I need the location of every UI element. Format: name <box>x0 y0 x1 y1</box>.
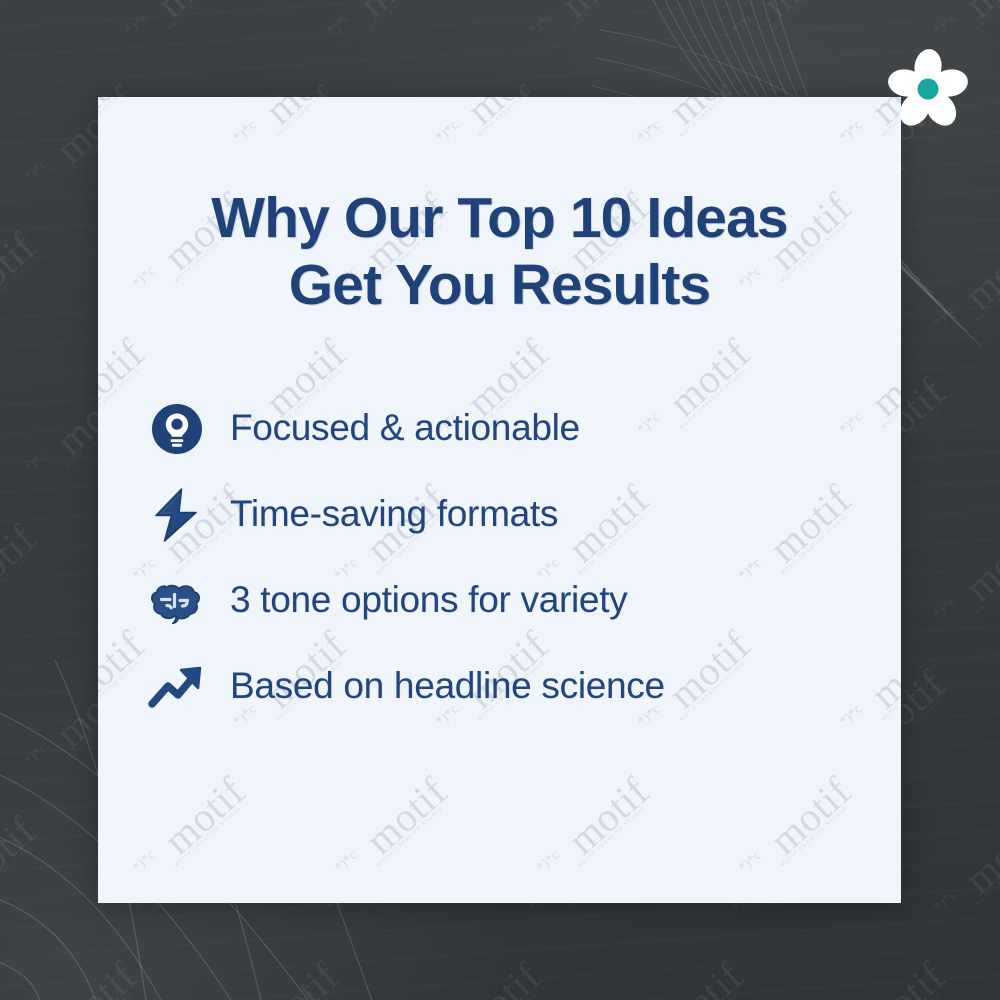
page-title-line-1: Why Our Top 10 Ideas <box>138 185 861 252</box>
watermark-mark: *)*cmotif.MOTIF CREATIVE STUDIO <box>0 311 8 482</box>
watermark-mark: *)*cmotif.MOTIF CREATIVE STUDIO <box>633 895 815 1000</box>
watermark-mark: *)*cmotif.MOTIF CREATIVE STUDIO <box>532 0 714 44</box>
list-item: Based on headline science <box>148 658 901 716</box>
watermark-mark: *)*cmotif.MOTIF CREATIVE STUDIO <box>936 457 1000 628</box>
watermark-mark: *)*cmotif.MOTIF CREATIVE STUDIO <box>0 0 109 44</box>
watermark-mark: *)*cmotif.MOTIF CREATIVE STUDIO <box>0 165 109 336</box>
list-item: Focused & actionable <box>148 400 901 458</box>
watermark-mark: *)*cmotif.MOTIF CREATIVE STUDIO <box>128 0 310 44</box>
lightbulb-circle-icon <box>148 400 206 458</box>
watermark-mark: *)*cmotif.MOTIF CREATIVE STUDIO <box>0 457 109 628</box>
watermark-mark: *)*cmotif.MOTIF CREATIVE STUDIO <box>0 749 109 920</box>
list-item-label: Based on headline science <box>230 666 665 707</box>
watermark-mark: *)*cmotif.MOTIF CREATIVE STUDIO <box>0 603 8 774</box>
watermark-mark: *)*cmotif.MOTIF CREATIVE STUDIO <box>0 19 8 190</box>
watermark-mark: *)*cmotif.MOTIF CREATIVE STUDIO <box>936 749 1000 920</box>
watermark-mark: *)*cmotif.MOTIF CREATIVE STUDIO <box>936 165 1000 336</box>
list-item-label: 3 tone options for variety <box>230 580 627 621</box>
list-item: 3 tone options for variety <box>148 572 901 630</box>
brain-icon <box>148 572 206 630</box>
watermark-mark: *)*cmotif.MOTIF CREATIVE STUDIO <box>431 895 613 1000</box>
flower-center <box>918 79 939 100</box>
list-item-label: Focused & actionable <box>230 408 580 449</box>
feature-list: Focused & actionable Time-saving formats <box>98 320 901 716</box>
watermark-mark: *)*cmotif.MOTIF CREATIVE STUDIO <box>330 0 512 44</box>
watermark-mark: *)*cmotif.MOTIF CREATIVE STUDIO <box>0 895 8 1000</box>
slide-canvas: *)*cmotif.MOTIF CREATIVE STUDIO*)*cmotif… <box>0 0 1000 1000</box>
watermark-mark: *)*cmotif.MOTIF CREATIVE STUDIO <box>229 895 411 1000</box>
lightning-bolt-icon <box>148 486 206 544</box>
flower-icon <box>884 45 972 133</box>
watermark-mark: *)*cmotif.MOTIF CREATIVE STUDIO <box>734 0 916 44</box>
content-card: *)*cmotif.MOTIF CREATIVE STUDIO*)*cmotif… <box>98 97 901 903</box>
watermark-mark: *)*cmotif.MOTIF CREATIVE STUDIO <box>27 895 209 1000</box>
trending-up-arrow-icon <box>148 658 206 716</box>
page-title-line-2: Get You Results <box>138 252 861 319</box>
page-title: Why Our Top 10 Ideas Get You Results <box>98 97 901 320</box>
list-item: Time-saving formats <box>148 486 901 544</box>
list-item-label: Time-saving formats <box>230 494 558 535</box>
watermark-mark: *)*cmotif.MOTIF CREATIVE STUDIO <box>835 895 1000 1000</box>
watermark-mark: *)*cmotif.MOTIF CREATIVE STUDIO <box>936 0 1000 44</box>
